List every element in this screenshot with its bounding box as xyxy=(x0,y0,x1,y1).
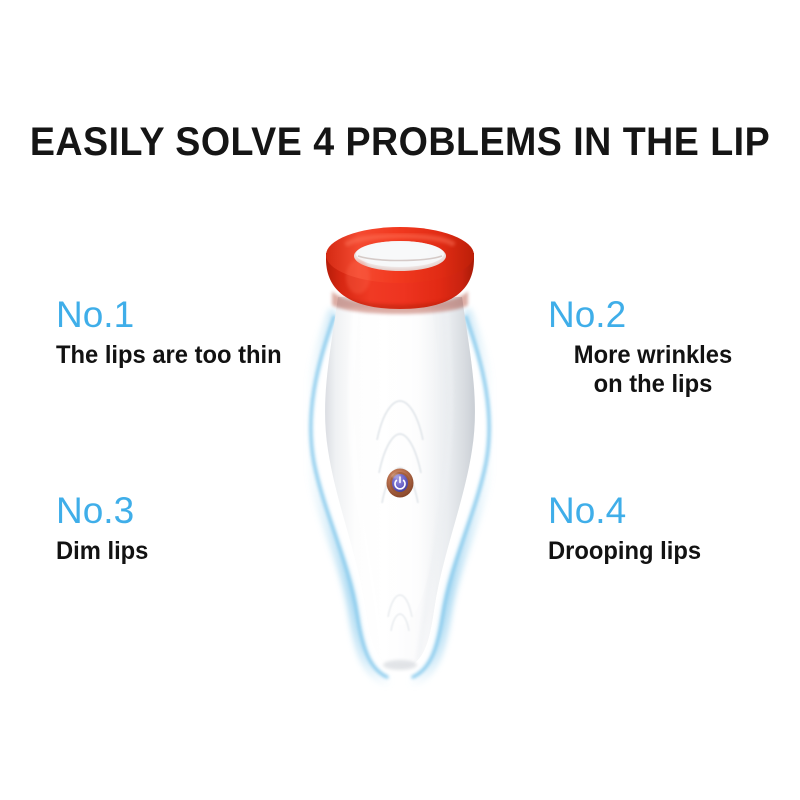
callout-no-1: No.1 The lips are too thin xyxy=(56,296,294,370)
callout-no-3: No.3 Dim lips xyxy=(56,492,153,566)
lip-enhancer-device xyxy=(250,225,550,695)
callout-number: No.3 xyxy=(56,492,153,531)
device-illustration xyxy=(250,225,550,695)
callout-description: Drooping lips xyxy=(548,537,701,567)
infographic-canvas: EASILY SOLVE 4 PROBLEMS IN THE LIP xyxy=(0,0,800,800)
callout-number: No.1 xyxy=(56,296,294,335)
callout-no-4: No.4 Drooping lips xyxy=(548,492,709,566)
callout-description: Dim lips xyxy=(56,537,148,567)
callout-no-2: No.2 More wrinkleson the lips xyxy=(548,296,758,400)
power-button[interactable] xyxy=(387,469,414,498)
callout-description: The lips are too thin xyxy=(56,341,282,371)
callout-description: More wrinkleson the lips xyxy=(553,341,753,400)
red-lip-suction-cap xyxy=(326,227,474,314)
callout-number: No.4 xyxy=(548,492,709,531)
page-title: EASILY SOLVE 4 PROBLEMS IN THE LIP xyxy=(24,120,776,165)
callout-number: No.2 xyxy=(548,296,758,335)
